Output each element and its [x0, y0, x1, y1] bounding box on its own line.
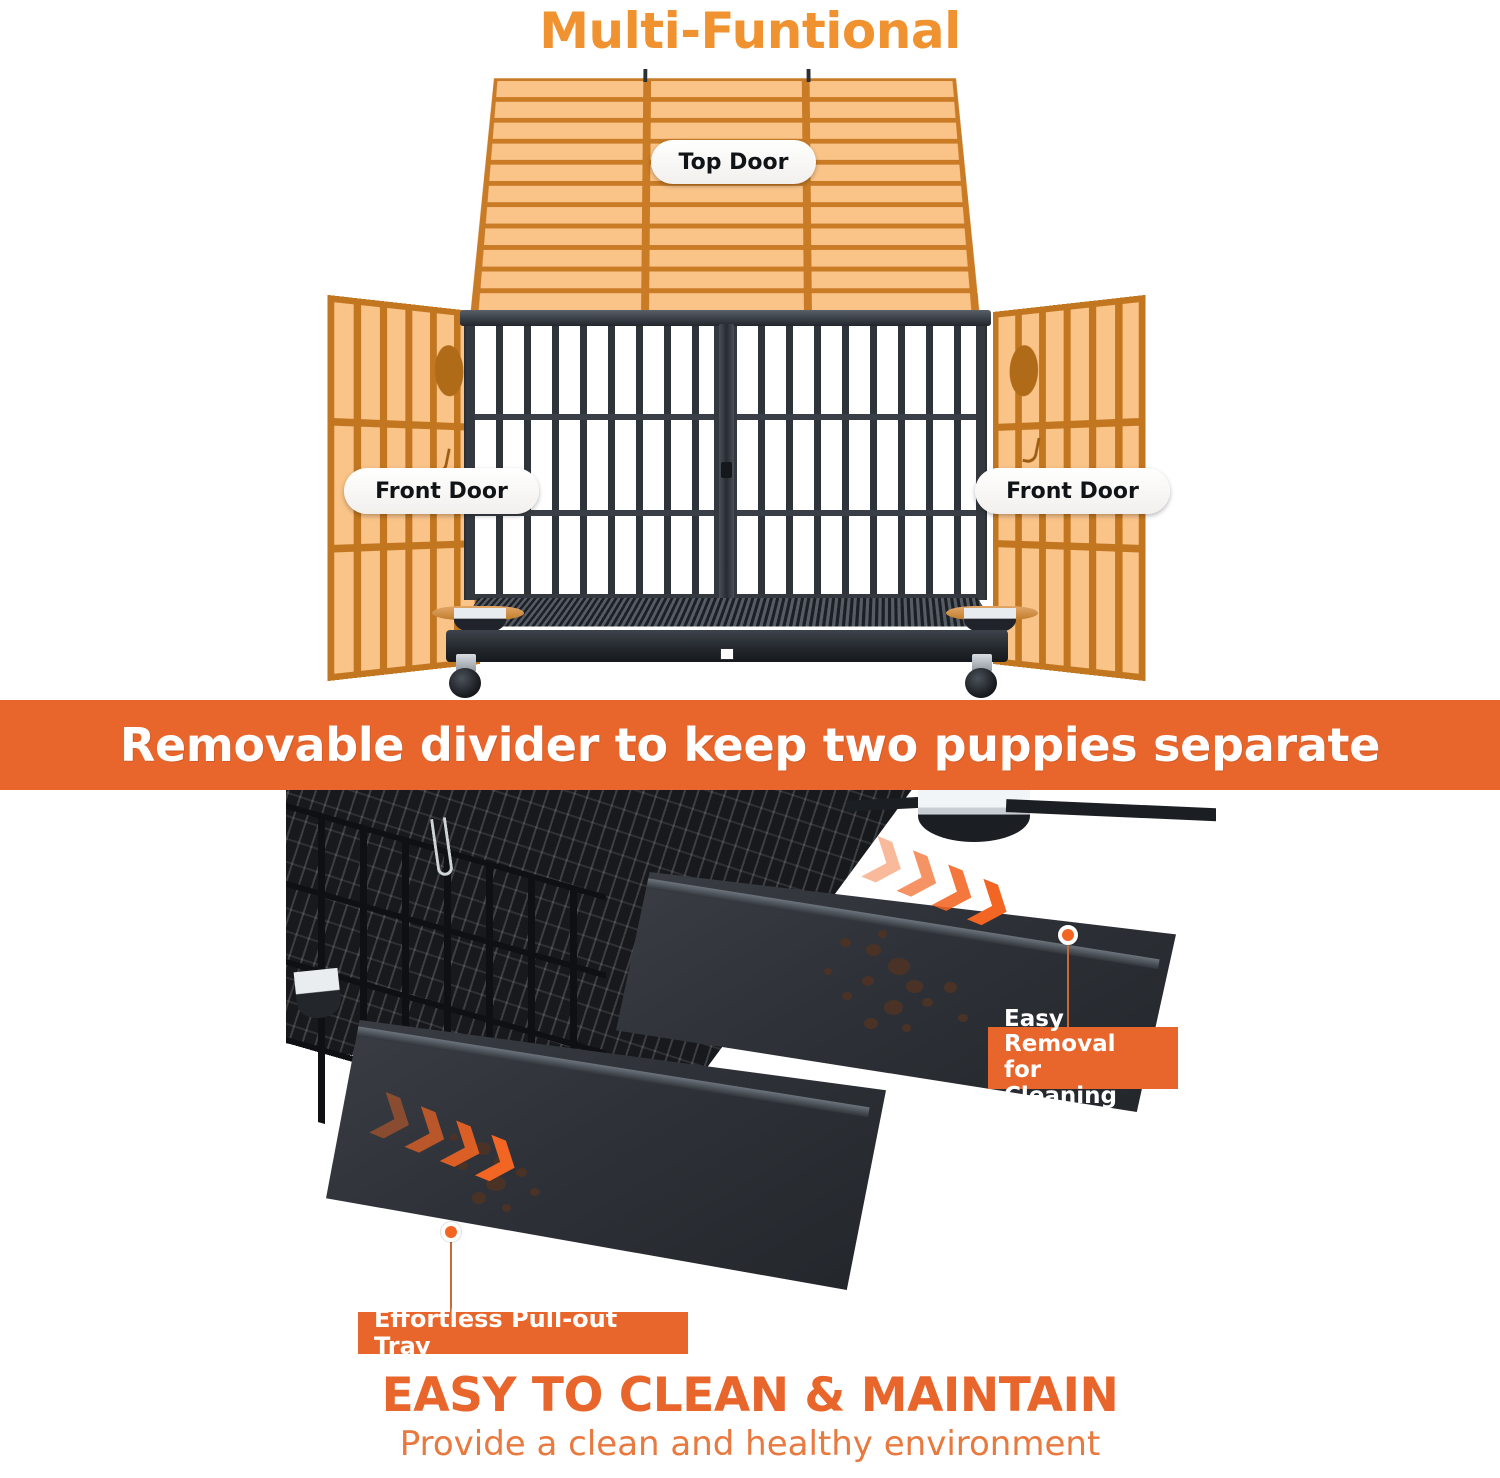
callout-top-door: Top Door: [651, 140, 816, 184]
base-notch: [720, 648, 734, 660]
cage-left-compartment: [466, 326, 723, 600]
callout-front-door-left: Front Door: [344, 468, 539, 514]
caster-wheel-icon: [965, 654, 999, 698]
top-door-hinge-icon: [643, 69, 647, 82]
cage-bars: [475, 326, 714, 594]
callout-easy-removal: Easy Removal for Cleaning: [988, 1027, 1178, 1089]
callout-easy-removal-line2: for Cleaning: [1004, 1058, 1162, 1110]
caster-wheel: [965, 668, 997, 698]
multi-functional-section: Multi-Funtional: [0, 0, 1500, 700]
pullout-tray-lower[interactable]: [326, 1020, 886, 1290]
callout-front-door-right: Front Door: [975, 468, 1170, 514]
cage-latch-icon: [721, 462, 732, 478]
top-door-panel: [470, 78, 980, 318]
cage-body: [466, 310, 985, 622]
divider-banner-text: Removable divider to keep two puppies se…: [120, 718, 1380, 772]
easy-clean-section: [0, 790, 1500, 1350]
footer-subheading: Provide a clean and healthy environment: [0, 1424, 1500, 1464]
top-door-bars: [478, 81, 972, 316]
callout-dot-icon: [441, 1222, 461, 1242]
cage-crossbar: [475, 414, 714, 420]
page-title: Multi-Funtional: [0, 2, 1500, 60]
footer-heading: EASY TO CLEAN & MAINTAIN: [0, 1368, 1500, 1423]
callout-easy-removal-line1: Easy Removal: [1004, 1007, 1162, 1059]
cage-grate-floor: [462, 598, 994, 626]
caster-wheel: [449, 668, 481, 698]
cage-right-compartment: [728, 326, 985, 600]
cage-bars: [737, 326, 976, 594]
top-door-vertical-rail: [641, 81, 651, 316]
divider-banner: Removable divider to keep two puppies se…: [0, 700, 1500, 790]
caster-wheel-icon: [449, 654, 483, 698]
feeding-bowl-icon: [918, 790, 1030, 842]
cage-crossbar: [737, 414, 976, 420]
top-door-hinge-icon: [807, 69, 811, 82]
callout-pullout-tray: Effortless Pull-out Tray: [358, 1312, 688, 1354]
top-door-vertical-rail: [802, 81, 812, 316]
cage-crossbar: [737, 510, 976, 516]
cage-rail: [1006, 799, 1216, 822]
callout-dot-icon: [1058, 925, 1078, 945]
cage-base-rail: [446, 630, 1008, 662]
